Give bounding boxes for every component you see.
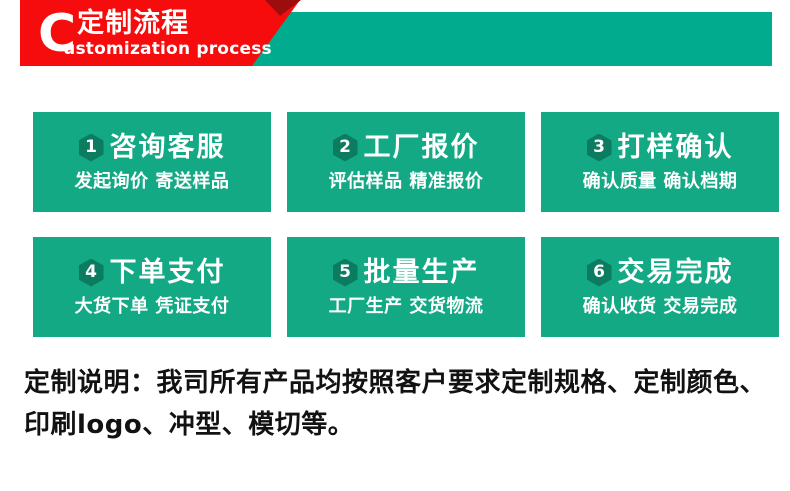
banner-text: C 定制流程 ustomization process xyxy=(38,6,272,62)
customization-note: 定制说明：我司所有产品均按照客户要求定制规格、定制颜色、印刷logo、冲型、模切… xyxy=(24,362,766,446)
step-subtitle: 确认质量 确认档期 xyxy=(583,171,738,193)
banner-title-group: 定制流程 ustomization process xyxy=(77,8,272,60)
step-subtitle: 评估样品 精准报价 xyxy=(329,171,484,193)
step-title: 批量生产 xyxy=(364,257,480,289)
step-subtitle: 确认收货 交易完成 xyxy=(583,296,738,318)
process-step-card[interactable]: 1 咨询客服 发起询价 寄送样品 xyxy=(33,112,271,212)
process-step-card[interactable]: 6 交易完成 确认收货 交易完成 xyxy=(541,237,779,337)
step-title: 工厂报价 xyxy=(364,132,480,164)
step-number-badge: 3 xyxy=(587,134,612,162)
process-step-grid: 1 咨询客服 发起询价 寄送样品 2 工厂报价 评估样品 精准报价 3 打样确认… xyxy=(33,112,757,337)
card-title-row: 5 批量生产 xyxy=(333,257,480,289)
card-title-row: 2 工厂报价 xyxy=(333,132,480,164)
step-number-badge: 1 xyxy=(79,134,104,162)
process-step-card[interactable]: 4 下单支付 大货下单 凭证支付 xyxy=(33,237,271,337)
step-subtitle: 发起询价 寄送样品 xyxy=(75,171,230,193)
step-number-badge: 4 xyxy=(79,259,104,287)
step-title: 交易完成 xyxy=(618,257,734,289)
card-title-row: 3 打样确认 xyxy=(587,132,734,164)
process-step-card[interactable]: 3 打样确认 确认质量 确认档期 xyxy=(541,112,779,212)
card-title-row: 6 交易完成 xyxy=(587,257,734,289)
process-step-card[interactable]: 2 工厂报价 评估样品 精准报价 xyxy=(287,112,525,212)
card-title-row: 1 咨询客服 xyxy=(79,132,226,164)
step-number-badge: 5 xyxy=(333,259,358,287)
banner-title-en: ustomization process xyxy=(63,39,272,60)
step-number-badge: 6 xyxy=(587,259,612,287)
step-subtitle: 大货下单 凭证支付 xyxy=(75,296,230,318)
card-title-row: 4 下单支付 xyxy=(79,257,226,289)
step-subtitle: 工厂生产 交货物流 xyxy=(329,296,484,318)
banner-title-cn: 定制流程 xyxy=(77,8,272,39)
step-number-badge: 2 xyxy=(333,134,358,162)
step-title: 下单支付 xyxy=(110,257,226,289)
step-title: 打样确认 xyxy=(618,132,734,164)
header-banner: C 定制流程 ustomization process xyxy=(0,0,790,70)
process-step-card[interactable]: 5 批量生产 工厂生产 交货物流 xyxy=(287,237,525,337)
step-title: 咨询客服 xyxy=(110,132,226,164)
